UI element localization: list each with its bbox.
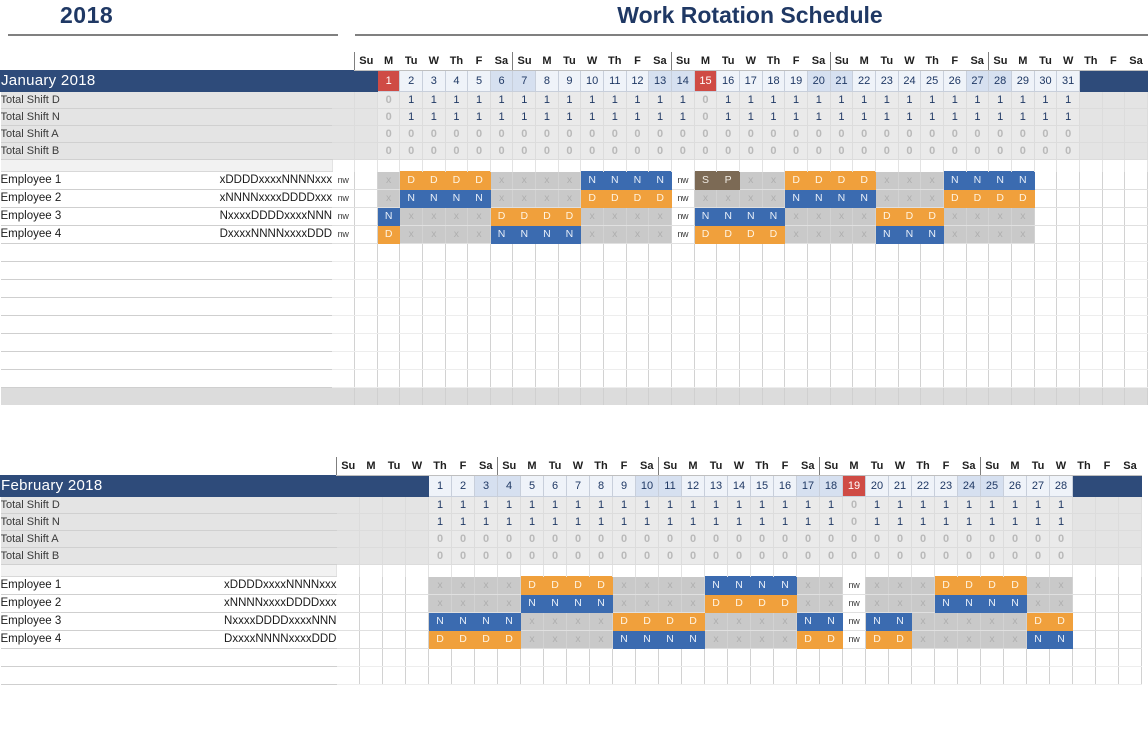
empty-shift-cell[interactable] bbox=[452, 649, 475, 667]
empty-shift-cell[interactable] bbox=[762, 298, 785, 316]
empty-shift-cell[interactable] bbox=[355, 316, 378, 334]
shift-cell-x[interactable]: x bbox=[498, 577, 521, 595]
empty-shift-cell[interactable] bbox=[739, 316, 762, 334]
empty-shift-cell[interactable] bbox=[671, 352, 694, 370]
empty-shift-cell[interactable] bbox=[513, 244, 536, 262]
shift-cell-N[interactable]: N bbox=[603, 172, 626, 190]
shift-cell-x[interactable]: x bbox=[498, 595, 521, 613]
shift-cell-x[interactable]: x bbox=[558, 190, 581, 208]
shift-cell-N[interactable]: N bbox=[558, 226, 581, 244]
empty-shift-cell[interactable] bbox=[558, 352, 581, 370]
empty-shift-cell[interactable] bbox=[445, 298, 468, 316]
shift-cell-D[interactable]: D bbox=[728, 595, 751, 613]
empty-shift-cell[interactable] bbox=[1125, 334, 1148, 352]
shift-cell-D[interactable]: D bbox=[445, 172, 468, 190]
empty-shift-cell[interactable] bbox=[490, 280, 513, 298]
shift-cell-N[interactable]: N bbox=[705, 577, 728, 595]
empty-shift-cell[interactable] bbox=[649, 298, 672, 316]
shift-cell-x[interactable]: x bbox=[567, 631, 590, 649]
shift-cell-D[interactable]: D bbox=[935, 577, 958, 595]
shift-cell-D[interactable]: D bbox=[958, 577, 981, 595]
empty-shift-cell[interactable] bbox=[1079, 298, 1102, 316]
empty-shift-cell[interactable] bbox=[1034, 262, 1057, 280]
shift-cell-N[interactable]: N bbox=[613, 631, 636, 649]
empty-shift-cell[interactable] bbox=[513, 262, 536, 280]
empty-shift-cell[interactable] bbox=[400, 244, 423, 262]
shift-cell-N[interactable]: N bbox=[797, 613, 820, 631]
empty-shift-cell[interactable] bbox=[498, 667, 521, 685]
shift-cell-N[interactable]: N bbox=[423, 190, 446, 208]
empty-shift-cell[interactable] bbox=[558, 244, 581, 262]
empty-shift-cell[interactable] bbox=[1125, 352, 1148, 370]
day-number[interactable]: 21 bbox=[830, 71, 853, 92]
shift-cell-x[interactable]: x bbox=[1027, 595, 1050, 613]
shift-cell-D[interactable]: D bbox=[807, 172, 830, 190]
empty-shift-cell[interactable] bbox=[332, 298, 355, 316]
empty-shift-cell[interactable] bbox=[966, 334, 989, 352]
day-number[interactable]: 26 bbox=[1004, 476, 1027, 497]
empty-shift-cell[interactable] bbox=[739, 262, 762, 280]
shift-cell-nw[interactable]: nw bbox=[843, 613, 866, 631]
day-number[interactable]: 27 bbox=[1027, 476, 1050, 497]
empty-shift-cell[interactable] bbox=[785, 262, 808, 280]
shift-cell-x[interactable]: x bbox=[912, 595, 935, 613]
empty-shift-cell[interactable] bbox=[1027, 667, 1050, 685]
shift-cell-x[interactable]: x bbox=[490, 190, 513, 208]
empty-shift-cell[interactable] bbox=[603, 262, 626, 280]
empty-shift-cell[interactable] bbox=[613, 667, 636, 685]
day-number[interactable]: 9 bbox=[613, 476, 636, 497]
empty-shift-cell[interactable] bbox=[966, 370, 989, 388]
empty-shift-cell[interactable] bbox=[649, 334, 672, 352]
shift-cell-D[interactable]: D bbox=[739, 226, 762, 244]
shift-cell-D[interactable]: D bbox=[1004, 577, 1027, 595]
shift-cell-x[interactable]: x bbox=[544, 631, 567, 649]
empty-shift-cell[interactable] bbox=[898, 334, 921, 352]
shift-cell-x[interactable]: x bbox=[603, 208, 626, 226]
empty-shift-cell[interactable] bbox=[1096, 649, 1119, 667]
empty-pattern-cell[interactable] bbox=[173, 262, 332, 280]
day-number[interactable]: 6 bbox=[544, 476, 567, 497]
empty-shift-cell[interactable] bbox=[921, 352, 944, 370]
empty-shift-cell[interactable] bbox=[694, 262, 717, 280]
empty-shift-cell[interactable] bbox=[966, 316, 989, 334]
empty-name-cell[interactable] bbox=[1, 262, 173, 280]
empty-shift-cell[interactable] bbox=[406, 667, 429, 685]
shift-cell-x[interactable]: x bbox=[659, 577, 682, 595]
empty-shift-cell[interactable] bbox=[590, 649, 613, 667]
shift-cell-x[interactable]: x bbox=[445, 226, 468, 244]
empty-shift-cell[interactable] bbox=[521, 649, 544, 667]
empty-shift-cell[interactable] bbox=[475, 649, 498, 667]
empty-shift-cell[interactable] bbox=[558, 280, 581, 298]
empty-shift-cell[interactable] bbox=[581, 334, 604, 352]
shift-cell-x[interactable]: x bbox=[626, 208, 649, 226]
empty-shift-cell[interactable] bbox=[728, 649, 751, 667]
empty-shift-cell[interactable] bbox=[921, 262, 944, 280]
shift-cell-D[interactable]: D bbox=[567, 577, 590, 595]
empty-shift-cell[interactable] bbox=[705, 649, 728, 667]
shift-cell-x[interactable]: x bbox=[429, 577, 452, 595]
empty-shift-cell[interactable] bbox=[717, 262, 740, 280]
empty-shift-cell[interactable] bbox=[717, 334, 740, 352]
shift-cell-x[interactable]: x bbox=[452, 595, 475, 613]
day-number[interactable]: 14 bbox=[728, 476, 751, 497]
empty-shift-cell[interactable] bbox=[739, 352, 762, 370]
empty-shift-cell[interactable] bbox=[694, 298, 717, 316]
empty-shift-cell[interactable] bbox=[898, 244, 921, 262]
empty-shift-cell[interactable] bbox=[490, 316, 513, 334]
empty-name-cell[interactable] bbox=[1, 649, 176, 667]
empty-shift-cell[interactable] bbox=[739, 244, 762, 262]
empty-shift-cell[interactable] bbox=[1034, 352, 1057, 370]
empty-shift-cell[interactable] bbox=[558, 370, 581, 388]
shift-cell-x[interactable]: x bbox=[751, 631, 774, 649]
empty-shift-cell[interactable] bbox=[853, 280, 876, 298]
shift-cell-x[interactable]: x bbox=[475, 577, 498, 595]
shift-cell-N[interactable]: N bbox=[513, 226, 536, 244]
shift-cell-nw[interactable]: nw bbox=[671, 208, 694, 226]
empty-shift-cell[interactable] bbox=[853, 244, 876, 262]
shift-cell-x[interactable]: x bbox=[989, 226, 1012, 244]
shift-cell-D[interactable]: D bbox=[717, 226, 740, 244]
empty-name-cell[interactable] bbox=[1, 667, 176, 685]
empty-shift-cell[interactable] bbox=[1004, 667, 1027, 685]
empty-shift-cell[interactable] bbox=[671, 280, 694, 298]
day-number[interactable]: 2 bbox=[452, 476, 475, 497]
empty-shift-cell[interactable] bbox=[1057, 316, 1080, 334]
shift-cell-nw[interactable]: nw bbox=[671, 226, 694, 244]
shift-cell-N[interactable]: N bbox=[636, 631, 659, 649]
shift-cell-D[interactable]: D bbox=[423, 172, 446, 190]
empty-shift-cell[interactable] bbox=[694, 352, 717, 370]
shift-cell-D[interactable]: D bbox=[1027, 613, 1050, 631]
empty-shift-cell[interactable] bbox=[807, 352, 830, 370]
shift-cell-N[interactable]: N bbox=[774, 577, 797, 595]
shift-cell-N[interactable]: N bbox=[581, 172, 604, 190]
empty-pattern-cell[interactable] bbox=[173, 352, 332, 370]
shift-cell-x[interactable]: x bbox=[490, 172, 513, 190]
shift-cell-x[interactable]: x bbox=[785, 208, 808, 226]
empty-pattern-cell[interactable] bbox=[173, 298, 332, 316]
empty-shift-cell[interactable] bbox=[807, 370, 830, 388]
empty-shift-cell[interactable] bbox=[603, 352, 626, 370]
empty-shift-cell[interactable] bbox=[898, 352, 921, 370]
empty-shift-cell[interactable] bbox=[400, 352, 423, 370]
day-number[interactable]: 10 bbox=[581, 71, 604, 92]
shift-cell-x[interactable]: x bbox=[853, 208, 876, 226]
shift-cell-D[interactable]: D bbox=[613, 613, 636, 631]
empty-shift-cell[interactable] bbox=[377, 298, 400, 316]
empty-pattern-cell[interactable] bbox=[173, 334, 332, 352]
shift-cell-D[interactable]: D bbox=[581, 190, 604, 208]
empty-shift-cell[interactable] bbox=[820, 667, 843, 685]
empty-shift-cell[interactable] bbox=[377, 244, 400, 262]
empty-shift-cell[interactable] bbox=[513, 280, 536, 298]
shift-cell-x[interactable]: x bbox=[1050, 595, 1073, 613]
empty-shift-cell[interactable] bbox=[966, 262, 989, 280]
shift-cell-D[interactable]: D bbox=[694, 226, 717, 244]
empty-shift-cell[interactable] bbox=[636, 649, 659, 667]
day-number[interactable]: 22 bbox=[853, 71, 876, 92]
shift-cell-N[interactable]: N bbox=[475, 613, 498, 631]
empty-shift-cell[interactable] bbox=[989, 334, 1012, 352]
empty-shift-cell[interactable] bbox=[536, 316, 559, 334]
shift-cell-N[interactable]: N bbox=[1027, 631, 1050, 649]
shift-cell-x[interactable]: x bbox=[521, 631, 544, 649]
empty-shift-cell[interactable] bbox=[468, 334, 491, 352]
shift-cell-x[interactable]: x bbox=[797, 577, 820, 595]
empty-shift-cell[interactable] bbox=[445, 316, 468, 334]
empty-shift-cell[interactable] bbox=[649, 244, 672, 262]
shift-cell-D[interactable]: D bbox=[400, 172, 423, 190]
empty-shift-cell[interactable] bbox=[603, 280, 626, 298]
shift-cell-N[interactable]: N bbox=[682, 631, 705, 649]
empty-shift-cell[interactable] bbox=[1012, 280, 1035, 298]
shift-cell-x[interactable]: x bbox=[475, 595, 498, 613]
empty-shift-cell[interactable] bbox=[717, 316, 740, 334]
empty-shift-cell[interactable] bbox=[875, 298, 898, 316]
empty-shift-cell[interactable] bbox=[445, 244, 468, 262]
shift-cell-x[interactable]: x bbox=[513, 190, 536, 208]
shift-cell-D[interactable]: D bbox=[659, 613, 682, 631]
shift-cell-nw[interactable]: nw bbox=[332, 208, 355, 226]
empty-shift-cell[interactable] bbox=[445, 352, 468, 370]
shift-cell-x[interactable]: x bbox=[943, 226, 966, 244]
shift-cell-x[interactable]: x bbox=[774, 613, 797, 631]
empty-shift-cell[interactable] bbox=[626, 370, 649, 388]
day-number[interactable]: 28 bbox=[1050, 476, 1073, 497]
empty-shift-cell[interactable] bbox=[989, 280, 1012, 298]
shift-cell-x[interactable]: x bbox=[423, 226, 446, 244]
empty-shift-cell[interactable] bbox=[603, 298, 626, 316]
day-number[interactable]: 23 bbox=[875, 71, 898, 92]
empty-shift-cell[interactable] bbox=[468, 262, 491, 280]
empty-shift-cell[interactable] bbox=[581, 262, 604, 280]
empty-shift-cell[interactable] bbox=[943, 370, 966, 388]
empty-shift-cell[interactable] bbox=[581, 244, 604, 262]
empty-shift-cell[interactable] bbox=[377, 280, 400, 298]
empty-shift-cell[interactable] bbox=[875, 244, 898, 262]
empty-shift-cell[interactable] bbox=[989, 370, 1012, 388]
empty-shift-cell[interactable] bbox=[853, 316, 876, 334]
empty-shift-cell[interactable] bbox=[843, 667, 866, 685]
empty-shift-cell[interactable] bbox=[649, 316, 672, 334]
day-number[interactable]: 12 bbox=[626, 71, 649, 92]
day-number[interactable]: 1 bbox=[377, 71, 400, 92]
empty-shift-cell[interactable] bbox=[603, 370, 626, 388]
empty-shift-cell[interactable] bbox=[383, 667, 406, 685]
day-number[interactable]: 8 bbox=[590, 476, 613, 497]
shift-cell-N[interactable]: N bbox=[935, 595, 958, 613]
shift-cell-x[interactable]: x bbox=[377, 190, 400, 208]
shift-cell-x[interactable]: x bbox=[536, 190, 559, 208]
day-number[interactable]: 28 bbox=[989, 71, 1012, 92]
shift-cell-x[interactable]: x bbox=[590, 631, 613, 649]
empty-shift-cell[interactable] bbox=[853, 262, 876, 280]
shift-cell-nw[interactable]: nw bbox=[671, 190, 694, 208]
empty-shift-cell[interactable] bbox=[1073, 667, 1096, 685]
empty-shift-cell[interactable] bbox=[400, 298, 423, 316]
empty-shift-cell[interactable] bbox=[468, 280, 491, 298]
shift-cell-x[interactable]: x bbox=[866, 595, 889, 613]
shift-cell-x[interactable]: x bbox=[966, 208, 989, 226]
empty-shift-cell[interactable] bbox=[898, 262, 921, 280]
empty-shift-cell[interactable] bbox=[355, 280, 378, 298]
empty-shift-cell[interactable] bbox=[603, 316, 626, 334]
empty-shift-cell[interactable] bbox=[1096, 667, 1119, 685]
shift-cell-x[interactable]: x bbox=[513, 172, 536, 190]
empty-shift-cell[interactable] bbox=[989, 244, 1012, 262]
shift-cell-x[interactable]: x bbox=[613, 595, 636, 613]
day-number[interactable]: 12 bbox=[682, 476, 705, 497]
shift-cell-N[interactable]: N bbox=[659, 631, 682, 649]
empty-shift-cell[interactable] bbox=[912, 649, 935, 667]
shift-cell-x[interactable]: x bbox=[558, 172, 581, 190]
empty-pattern-cell[interactable] bbox=[173, 244, 332, 262]
shift-cell-N[interactable]: N bbox=[898, 226, 921, 244]
empty-shift-cell[interactable] bbox=[490, 298, 513, 316]
empty-shift-cell[interactable] bbox=[558, 334, 581, 352]
shift-cell-D[interactable]: D bbox=[558, 208, 581, 226]
shift-cell-x[interactable]: x bbox=[728, 613, 751, 631]
empty-shift-cell[interactable] bbox=[355, 334, 378, 352]
shift-cell-x[interactable]: x bbox=[981, 631, 1004, 649]
shift-cell-N[interactable]: N bbox=[751, 577, 774, 595]
empty-shift-cell[interactable] bbox=[429, 649, 452, 667]
empty-shift-cell[interactable] bbox=[603, 244, 626, 262]
shift-cell-D[interactable]: D bbox=[797, 631, 820, 649]
shift-cell-N[interactable]: N bbox=[490, 226, 513, 244]
empty-shift-cell[interactable] bbox=[468, 370, 491, 388]
shift-cell-x[interactable]: x bbox=[626, 226, 649, 244]
empty-shift-cell[interactable] bbox=[423, 244, 446, 262]
empty-shift-cell[interactable] bbox=[377, 262, 400, 280]
shift-cell-D[interactable]: D bbox=[682, 613, 705, 631]
empty-shift-cell[interactable] bbox=[360, 667, 383, 685]
empty-shift-cell[interactable] bbox=[581, 280, 604, 298]
empty-shift-cell[interactable] bbox=[785, 316, 808, 334]
day-number[interactable]: 6 bbox=[490, 71, 513, 92]
empty-shift-cell[interactable] bbox=[558, 316, 581, 334]
day-number[interactable]: 8 bbox=[536, 71, 559, 92]
shift-cell-D[interactable]: D bbox=[1012, 190, 1035, 208]
empty-shift-cell[interactable] bbox=[490, 244, 513, 262]
shift-cell-x[interactable]: x bbox=[705, 613, 728, 631]
shift-cell-D[interactable]: D bbox=[536, 208, 559, 226]
empty-shift-cell[interactable] bbox=[1119, 667, 1142, 685]
empty-shift-cell[interactable] bbox=[1004, 649, 1027, 667]
empty-shift-cell[interactable] bbox=[406, 649, 429, 667]
empty-shift-cell[interactable] bbox=[830, 370, 853, 388]
shift-cell-nw[interactable]: nw bbox=[332, 190, 355, 208]
shift-cell-x[interactable]: x bbox=[445, 208, 468, 226]
shift-cell-nw[interactable]: nw bbox=[332, 172, 355, 190]
empty-shift-cell[interactable] bbox=[762, 262, 785, 280]
empty-shift-cell[interactable] bbox=[785, 352, 808, 370]
empty-shift-cell[interactable] bbox=[1079, 280, 1102, 298]
shift-cell-x[interactable]: x bbox=[807, 226, 830, 244]
day-number[interactable]: 29 bbox=[1012, 71, 1035, 92]
empty-shift-cell[interactable] bbox=[958, 649, 981, 667]
empty-shift-cell[interactable] bbox=[445, 370, 468, 388]
shift-cell-N[interactable]: N bbox=[875, 226, 898, 244]
shift-cell-D[interactable]: D bbox=[875, 208, 898, 226]
shift-cell-nw[interactable]: nw bbox=[843, 577, 866, 595]
empty-pattern-cell[interactable] bbox=[173, 280, 332, 298]
empty-shift-cell[interactable] bbox=[445, 334, 468, 352]
shift-cell-N[interactable]: N bbox=[536, 226, 559, 244]
day-number[interactable]: 17 bbox=[739, 71, 762, 92]
empty-shift-cell[interactable] bbox=[337, 649, 360, 667]
shift-cell-x[interactable]: x bbox=[429, 595, 452, 613]
empty-shift-cell[interactable] bbox=[921, 298, 944, 316]
shift-cell-N[interactable]: N bbox=[1050, 631, 1073, 649]
shift-cell-x[interactable]: x bbox=[1004, 631, 1027, 649]
empty-shift-cell[interactable] bbox=[807, 334, 830, 352]
shift-cell-x[interactable]: x bbox=[400, 226, 423, 244]
empty-shift-cell[interactable] bbox=[943, 244, 966, 262]
shift-cell-nw[interactable]: nw bbox=[843, 595, 866, 613]
empty-shift-cell[interactable] bbox=[544, 667, 567, 685]
empty-shift-cell[interactable] bbox=[1034, 334, 1057, 352]
empty-shift-cell[interactable] bbox=[490, 370, 513, 388]
shift-cell-D[interactable]: D bbox=[762, 226, 785, 244]
empty-shift-cell[interactable] bbox=[981, 649, 1004, 667]
empty-shift-cell[interactable] bbox=[475, 667, 498, 685]
shift-cell-N[interactable]: N bbox=[544, 595, 567, 613]
empty-shift-cell[interactable] bbox=[1102, 280, 1124, 298]
shift-cell-D[interactable]: D bbox=[889, 631, 912, 649]
empty-shift-cell[interactable] bbox=[1079, 262, 1102, 280]
empty-shift-cell[interactable] bbox=[875, 316, 898, 334]
day-number[interactable]: 19 bbox=[785, 71, 808, 92]
shift-cell-D[interactable]: D bbox=[521, 577, 544, 595]
empty-shift-cell[interactable] bbox=[649, 370, 672, 388]
empty-pattern-cell[interactable] bbox=[173, 370, 332, 388]
shift-cell-x[interactable]: x bbox=[966, 226, 989, 244]
empty-shift-cell[interactable] bbox=[1034, 370, 1057, 388]
empty-shift-cell[interactable] bbox=[513, 298, 536, 316]
shift-cell-x[interactable]: x bbox=[958, 613, 981, 631]
empty-shift-cell[interactable] bbox=[355, 298, 378, 316]
empty-shift-cell[interactable] bbox=[626, 280, 649, 298]
empty-shift-cell[interactable] bbox=[785, 298, 808, 316]
empty-shift-cell[interactable] bbox=[1125, 370, 1148, 388]
empty-shift-cell[interactable] bbox=[921, 280, 944, 298]
day-number[interactable]: 14 bbox=[671, 71, 694, 92]
shift-cell-x[interactable]: x bbox=[935, 631, 958, 649]
empty-shift-cell[interactable] bbox=[739, 334, 762, 352]
empty-shift-cell[interactable] bbox=[875, 370, 898, 388]
empty-shift-cell[interactable] bbox=[751, 649, 774, 667]
empty-shift-cell[interactable] bbox=[943, 334, 966, 352]
day-number[interactable]: 31 bbox=[1057, 71, 1080, 92]
shift-cell-x[interactable]: x bbox=[912, 613, 935, 631]
shift-cell-x[interactable]: x bbox=[590, 613, 613, 631]
shift-cell-N[interactable]: N bbox=[981, 595, 1004, 613]
empty-shift-cell[interactable] bbox=[1034, 280, 1057, 298]
empty-shift-cell[interactable] bbox=[383, 649, 406, 667]
empty-shift-cell[interactable] bbox=[377, 334, 400, 352]
day-number[interactable]: 1 bbox=[429, 476, 452, 497]
empty-shift-cell[interactable] bbox=[468, 298, 491, 316]
empty-shift-cell[interactable] bbox=[717, 298, 740, 316]
empty-shift-cell[interactable] bbox=[989, 298, 1012, 316]
empty-shift-cell[interactable] bbox=[966, 280, 989, 298]
shift-cell-N[interactable]: N bbox=[717, 208, 740, 226]
shift-cell-P[interactable]: P bbox=[717, 172, 740, 190]
